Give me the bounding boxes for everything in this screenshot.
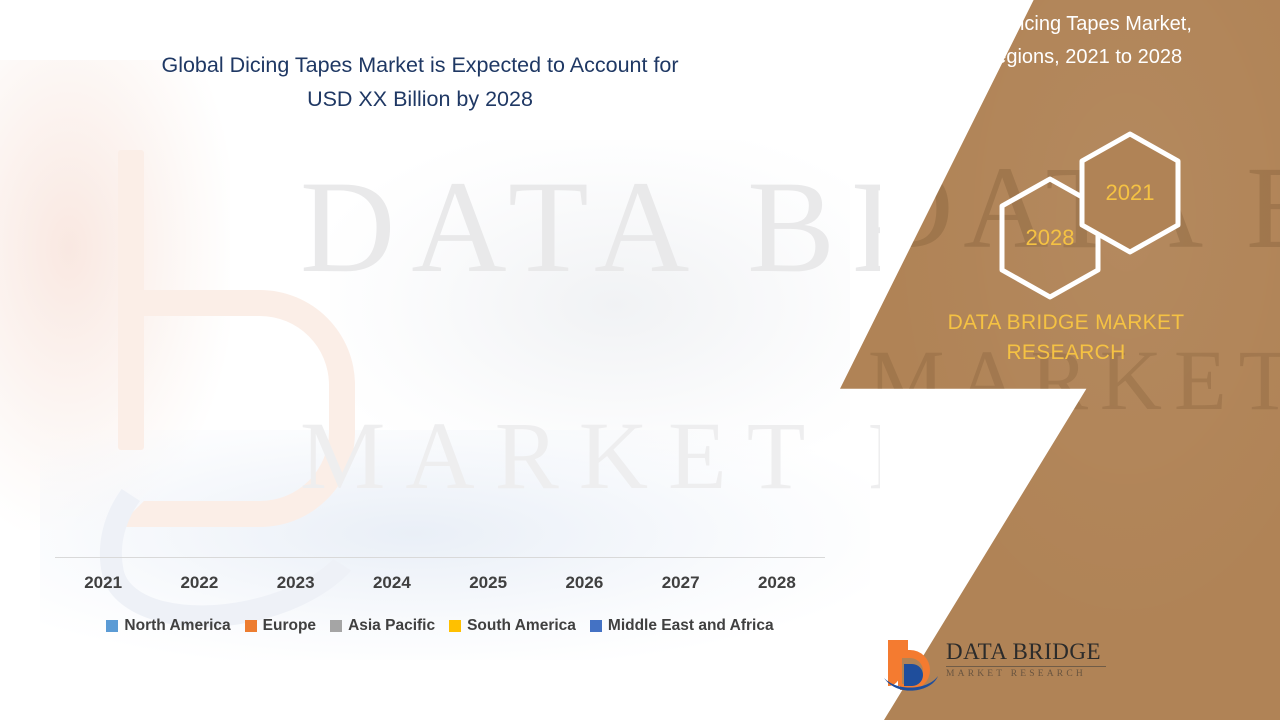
chart-bars [55, 150, 825, 557]
bar-group-2028 [729, 150, 825, 557]
legend-item[interactable]: South America [449, 617, 576, 635]
panel-title-line2: By Regions, 2021 to 2028 [880, 41, 1254, 74]
chart-title: Global Dicing Tapes Market is Expected t… [90, 48, 750, 116]
bar-group-2023 [248, 150, 344, 557]
logo-wordmark: DATA BRIDGE MARKET RESEARCH [946, 639, 1110, 679]
slide-canvas: DATA BRIDGE MARKET RESEARCH Global Dicin… [0, 0, 1280, 720]
legend-label: Asia Pacific [348, 617, 435, 635]
x-axis-label-2027: 2027 [633, 573, 729, 593]
legend-item[interactable]: Europe [245, 617, 316, 635]
x-axis-label-2024: 2024 [344, 573, 440, 593]
x-axis-label-2028: 2028 [729, 573, 825, 593]
logo-title: DATA BRIDGE [946, 639, 1110, 665]
company-logo: DATA BRIDGE MARKET RESEARCH [880, 634, 1110, 696]
chart-title-line2: USD XX Billion by 2028 [90, 82, 750, 116]
bar-group-2021 [55, 150, 151, 557]
bar-group-2025 [440, 150, 536, 557]
legend-swatch-icon [106, 620, 118, 632]
x-axis-label-2023: 2023 [248, 573, 344, 593]
hexagon-group: 2028 2021 [840, 130, 1280, 295]
chart-x-axis-labels: 20212022202320242025202620272028 [55, 573, 825, 593]
panel-title: Global Dicing Tapes Market, By Regions, … [840, 8, 1280, 74]
bar-group-2026 [536, 150, 632, 557]
legend-item[interactable]: North America [106, 617, 230, 635]
legend-swatch-icon [245, 620, 257, 632]
hexagon-2021: 2021 [1075, 130, 1185, 256]
panel-brand-text: DATA BRIDGE MARKET RESEARCH [840, 308, 1280, 368]
hexagon-2021-label: 2021 [1075, 130, 1185, 256]
logo-subtitle: MARKET RESEARCH [946, 669, 1110, 679]
bar-group-2027 [633, 150, 729, 557]
chart-axis-line [55, 557, 825, 558]
panel-brand-line1: DATA BRIDGE MARKET [892, 308, 1240, 338]
legend-swatch-icon [590, 620, 602, 632]
legend-swatch-icon [330, 620, 342, 632]
logo-divider [946, 666, 1106, 667]
legend-label: South America [467, 617, 576, 635]
bar-group-2022 [151, 150, 247, 557]
x-axis-label-2025: 2025 [440, 573, 536, 593]
x-axis-label-2026: 2026 [536, 573, 632, 593]
legend-swatch-icon [449, 620, 461, 632]
x-axis-label-2022: 2022 [151, 573, 247, 593]
legend-label: Middle East and Africa [608, 617, 774, 635]
x-axis-label-2021: 2021 [55, 573, 151, 593]
panel-title-line1: Global Dicing Tapes Market, [880, 8, 1254, 41]
chart-title-line1: Global Dicing Tapes Market is Expected t… [90, 48, 750, 82]
legend-item[interactable]: Middle East and Africa [590, 617, 774, 635]
logo-mark-icon [880, 634, 942, 696]
chart-legend: North AmericaEuropeAsia PacificSouth Ame… [55, 617, 825, 635]
bar-group-2024 [344, 150, 440, 557]
legend-label: North America [124, 617, 230, 635]
legend-label: Europe [263, 617, 316, 635]
panel-brand-line2: RESEARCH [892, 338, 1240, 368]
legend-item[interactable]: Asia Pacific [330, 617, 435, 635]
stacked-bar-chart [55, 150, 825, 558]
